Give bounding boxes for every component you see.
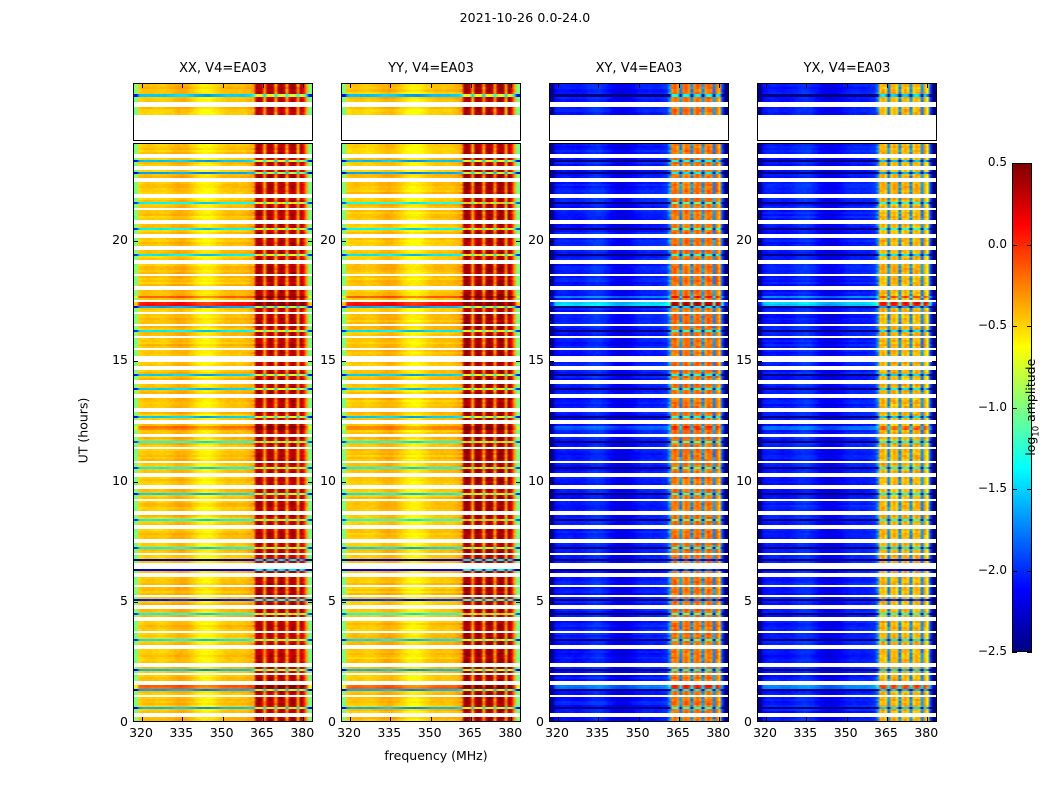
ytick-right-5 <box>932 602 936 603</box>
ytick-label-15: 15 <box>718 352 752 367</box>
strip-xtick-350 <box>847 84 848 88</box>
strip-xtick-320 <box>142 84 143 88</box>
xtick-label-xx-320: 320 <box>118 725 164 740</box>
xtick-365 <box>887 717 888 721</box>
strip-xtick-335 <box>182 84 183 88</box>
colorbar-tick-label-5: 0.0 <box>967 237 1007 251</box>
summary-strip-blank <box>342 115 520 141</box>
xtick-label-yy-350: 350 <box>407 725 453 740</box>
xtick-label-xy-320: 320 <box>534 725 580 740</box>
heatmap-row <box>342 721 520 722</box>
ytick-label-15: 15 <box>302 352 336 367</box>
strip-xtick-335 <box>390 84 391 88</box>
colorbar-tick-label-0: −2.5 <box>967 644 1007 658</box>
xtick-label-yy-365: 365 <box>447 725 493 740</box>
colorbar-title-main: log <box>1023 436 1038 455</box>
waterfall-image <box>134 144 312 721</box>
xtick-335 <box>598 717 599 721</box>
strip-xtick-320 <box>766 84 767 88</box>
panel-title-xx: XX, V4=EA03 <box>133 61 313 76</box>
xtick-365 <box>679 717 680 721</box>
colorbar-title: log10 amplitude <box>1023 347 1042 467</box>
panel-title-yy: YY, V4=EA03 <box>341 61 521 76</box>
ytick-label-20: 20 <box>302 232 336 247</box>
xtick-350 <box>223 717 224 721</box>
xtick-label-yy-320: 320 <box>326 725 372 740</box>
ytick-label-20: 20 <box>718 232 752 247</box>
ytick-right-20 <box>932 241 936 242</box>
xtick-label-xx-365: 365 <box>239 725 285 740</box>
ytick-10 <box>134 482 138 483</box>
colorbar-tick-3 <box>1012 408 1017 409</box>
strip-xtick-365 <box>263 84 264 88</box>
xtick-350 <box>847 717 848 721</box>
xtick-335 <box>806 717 807 721</box>
xtick-label-yx-320: 320 <box>742 725 788 740</box>
ytick-15 <box>758 361 762 362</box>
strip-xtick-380 <box>303 84 304 88</box>
waterfall-image <box>758 144 936 721</box>
ytick-right-10 <box>932 482 936 483</box>
ytick-10 <box>758 482 762 483</box>
heatmap-row <box>134 721 312 722</box>
ytick-label-5: 5 <box>302 593 336 608</box>
colorbar-tick-label-3: −1.0 <box>967 400 1007 414</box>
colorbar-tick-5 <box>1012 245 1017 246</box>
ytick-label-10: 10 <box>718 473 752 488</box>
strip-xtick-335 <box>598 84 599 88</box>
waterfall-image <box>550 144 728 721</box>
waterfall-xx[interactable] <box>133 143 313 722</box>
strip-xtick-320 <box>350 84 351 88</box>
ytick-label-15: 15 <box>94 352 128 367</box>
xtick-label-xx-335: 335 <box>158 725 204 740</box>
strip-xtick-365 <box>679 84 680 88</box>
colorbar-tick-right-0 <box>1027 652 1032 653</box>
strip-xtick-350 <box>639 84 640 88</box>
ytick-15 <box>134 361 138 362</box>
ytick-5 <box>134 602 138 603</box>
xtick-380 <box>927 717 928 721</box>
xtick-335 <box>390 717 391 721</box>
colorbar-tick-right-6 <box>1027 163 1032 164</box>
summary-strip-xy[interactable] <box>549 83 729 141</box>
colorbar-tick-1 <box>1012 571 1017 572</box>
panel-title-yx: YX, V4=EA03 <box>757 61 937 76</box>
figure-canvas: 2021-10-26 0.0-24.0 XX, V4=EA03051015203… <box>0 0 1050 800</box>
colorbar-tick-right-2 <box>1027 489 1032 490</box>
colorbar-tick-label-2: −1.5 <box>967 481 1007 495</box>
ytick-5 <box>342 602 346 603</box>
xtick-350 <box>431 717 432 721</box>
ytick-15 <box>550 361 554 362</box>
ytick-20 <box>758 241 762 242</box>
waterfall-yx[interactable] <box>757 143 937 722</box>
colorbar-tick-2 <box>1012 489 1017 490</box>
figure-suptitle: 2021-10-26 0.0-24.0 <box>0 10 1050 25</box>
colorbar-tick-right-5 <box>1027 245 1032 246</box>
strip-xtick-365 <box>887 84 888 88</box>
ytick-label-10: 10 <box>94 473 128 488</box>
xtick-320 <box>558 717 559 721</box>
colorbar-tick-4 <box>1012 326 1017 327</box>
xtick-label-xx-350: 350 <box>199 725 245 740</box>
colorbar-tick-right-4 <box>1027 326 1032 327</box>
strip-xtick-350 <box>431 84 432 88</box>
xtick-label-yx-335: 335 <box>782 725 828 740</box>
ytick-label-10: 10 <box>302 473 336 488</box>
summary-strip-yy[interactable] <box>341 83 521 141</box>
strip-xtick-380 <box>927 84 928 88</box>
summary-strip-xx[interactable] <box>133 83 313 141</box>
heatmap-row <box>758 721 936 722</box>
ytick-label-10: 10 <box>510 473 544 488</box>
strip-xtick-335 <box>806 84 807 88</box>
strip-xtick-320 <box>558 84 559 88</box>
strip-xtick-380 <box>511 84 512 88</box>
y-axis-title: UT (hours) <box>76 360 91 500</box>
xtick-365 <box>263 717 264 721</box>
xtick-320 <box>350 717 351 721</box>
colorbar-tick-label-6: 0.5 <box>967 155 1007 169</box>
heatmap-row <box>550 721 728 722</box>
xtick-350 <box>639 717 640 721</box>
waterfall-image <box>342 144 520 721</box>
ytick-label-5: 5 <box>718 593 752 608</box>
xtick-label-xy-350: 350 <box>615 725 661 740</box>
colorbar-title-subscript: 10 <box>1031 425 1041 436</box>
ytick-label-20: 20 <box>510 232 544 247</box>
colorbar-tick-label-4: −0.5 <box>967 318 1007 332</box>
strip-xtick-350 <box>223 84 224 88</box>
ytick-20 <box>550 241 554 242</box>
xtick-335 <box>182 717 183 721</box>
ytick-5 <box>758 602 762 603</box>
ytick-5 <box>550 602 554 603</box>
xtick-320 <box>142 717 143 721</box>
panel-title-xy: XY, V4=EA03 <box>549 61 729 76</box>
ytick-label-5: 5 <box>510 593 544 608</box>
ytick-15 <box>342 361 346 362</box>
ytick-20 <box>134 241 138 242</box>
ytick-label-15: 15 <box>510 352 544 367</box>
x-axis-title: frequency (MHz) <box>376 748 496 763</box>
colorbar-tick-right-1 <box>1027 571 1032 572</box>
ytick-label-20: 20 <box>94 232 128 247</box>
ytick-10 <box>550 482 554 483</box>
colorbar-tick-label-1: −2.0 <box>967 563 1007 577</box>
colorbar-title-tail: amplitude <box>1023 358 1038 425</box>
xtick-label-yy-335: 335 <box>366 725 412 740</box>
summary-strip-blank <box>758 115 936 141</box>
summary-strip-blank <box>134 115 312 141</box>
xtick-label-yx-350: 350 <box>823 725 869 740</box>
waterfall-yy[interactable] <box>341 143 521 722</box>
ytick-20 <box>342 241 346 242</box>
colorbar-tick-0 <box>1012 652 1017 653</box>
xtick-label-xy-335: 335 <box>574 725 620 740</box>
strip-xtick-380 <box>719 84 720 88</box>
strip-xtick-365 <box>471 84 472 88</box>
xtick-label-xy-365: 365 <box>655 725 701 740</box>
ytick-10 <box>342 482 346 483</box>
xtick-label-yx-380: 380 <box>903 725 949 740</box>
xtick-365 <box>471 717 472 721</box>
waterfall-xy[interactable] <box>549 143 729 722</box>
ytick-label-5: 5 <box>94 593 128 608</box>
ytick-right-15 <box>932 361 936 362</box>
summary-strip-blank <box>550 115 728 141</box>
summary-strip-yx[interactable] <box>757 83 937 141</box>
xtick-320 <box>766 717 767 721</box>
xtick-label-yx-365: 365 <box>863 725 909 740</box>
colorbar-tick-6 <box>1012 163 1017 164</box>
